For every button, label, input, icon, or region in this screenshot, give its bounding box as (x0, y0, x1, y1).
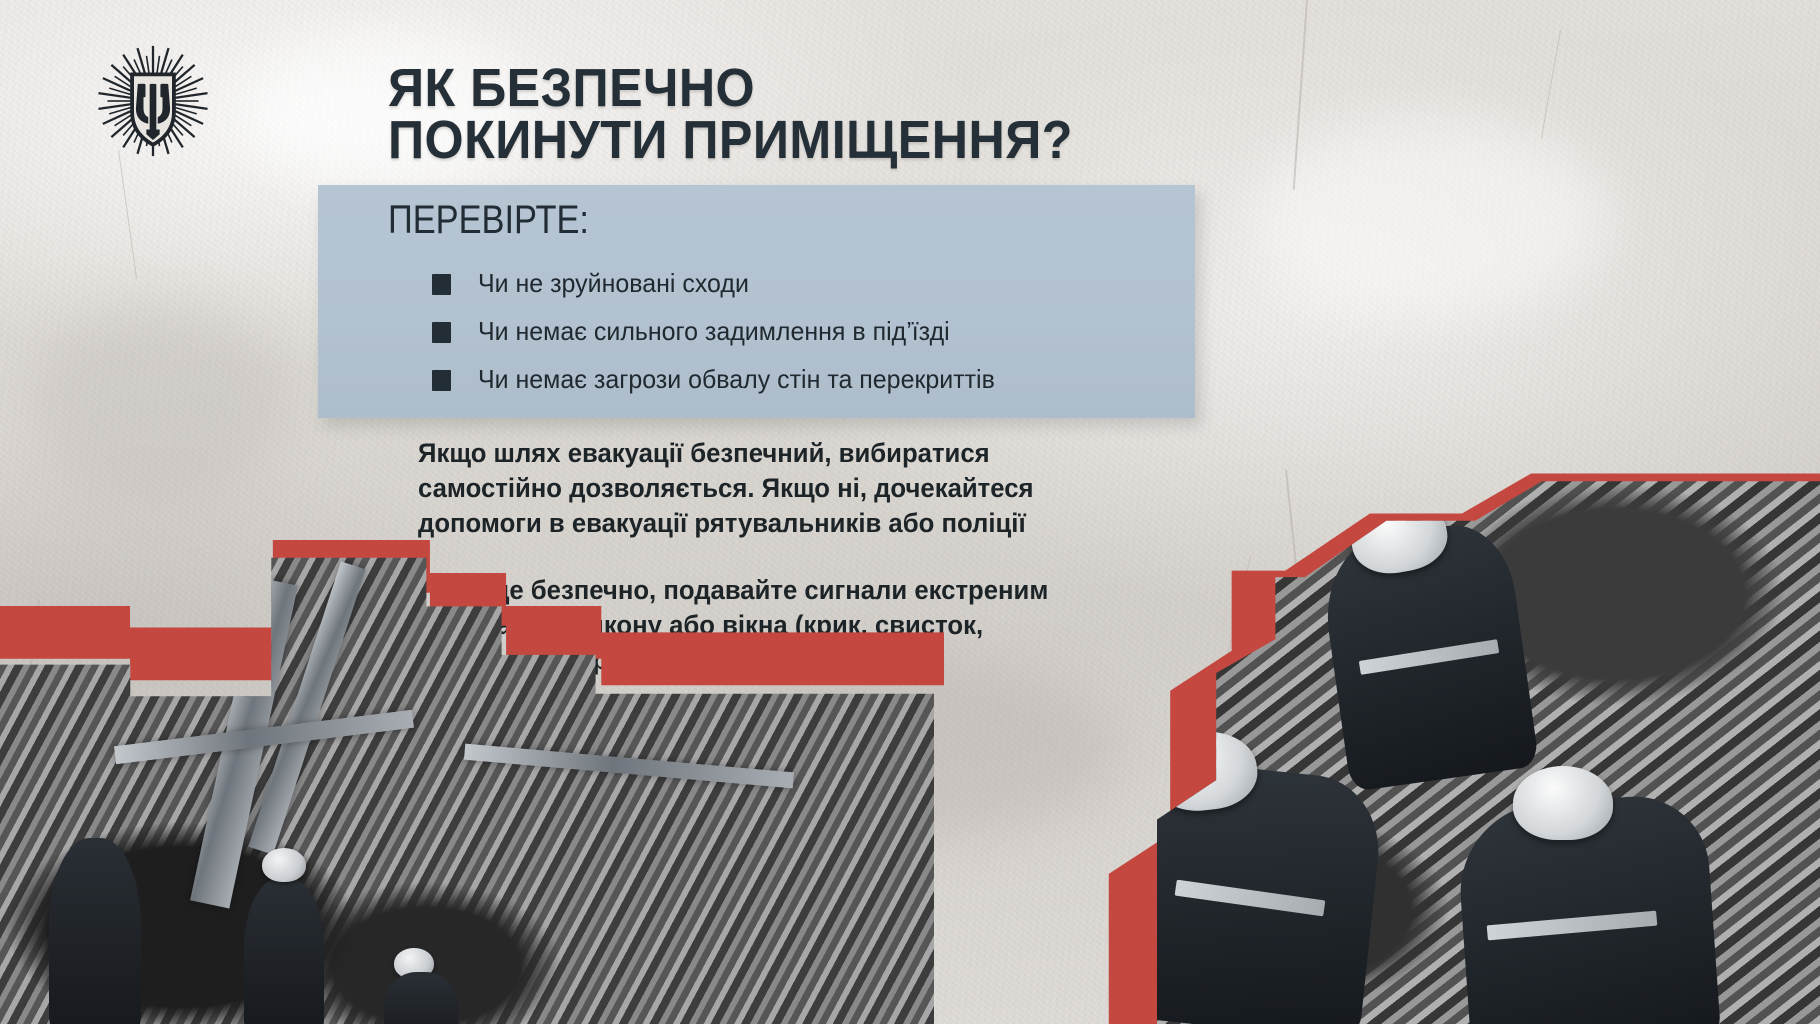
list-item: Чи немає загрози обвалу стін та перекрит… (432, 364, 1172, 394)
list-item: Чи немає сильного задимлення в під’їзді (432, 316, 1172, 346)
paragraph-evacuation-route: Якщо шлях евакуації безпечний, вибиратис… (418, 436, 1136, 541)
square-bullet-icon (432, 274, 451, 295)
poster-canvas: ЯК БЕЗПЕЧНО ПОКИНУТИ ПРИМІЩЕННЯ? ПЕРЕВІР… (0, 0, 1820, 1024)
checklist: Чи не зруйновані сходи Чи немає сильного… (432, 268, 1172, 412)
list-item: Чи не зруйновані сходи (432, 268, 1172, 298)
police-emblem-logo (96, 42, 210, 160)
list-item-label: Чи немає загрози обвалу стін та перекрит… (478, 364, 995, 394)
paragraph-line: допомоги в евакуації рятувальників або п… (418, 506, 1136, 541)
paragraph-line: Якщо шлях евакуації безпечний, вибиратис… (418, 436, 1136, 471)
rescuer-silhouette (49, 838, 141, 1024)
helmet-icon (262, 848, 306, 882)
page-title: ЯК БЕЗПЕЧНО ПОКИНУТИ ПРИМІЩЕННЯ? (388, 62, 1169, 166)
paragraph-line: Якщо це безпечно, подавайте сигнали екст… (418, 573, 1136, 608)
title-line-2: ПОКИНУТИ ПРИМІЩЕННЯ? (388, 114, 1169, 166)
title-line-1: ЯК БЕЗПЕЧНО (388, 62, 1169, 114)
checklist-heading: ПЕРЕВІРТЕ: (388, 198, 589, 242)
square-bullet-icon (432, 322, 451, 343)
list-item-label: Чи немає сильного задимлення в під’їзді (478, 316, 950, 346)
paragraph-line: самостійно дозволяється. Якщо ні, дочека… (418, 471, 1136, 506)
helmet-icon (1513, 766, 1613, 840)
rescuer-silhouette (384, 972, 458, 1024)
list-item-label: Чи не зруйновані сходи (478, 268, 749, 298)
rescuer-silhouette (244, 878, 324, 1024)
square-bullet-icon (432, 370, 451, 391)
